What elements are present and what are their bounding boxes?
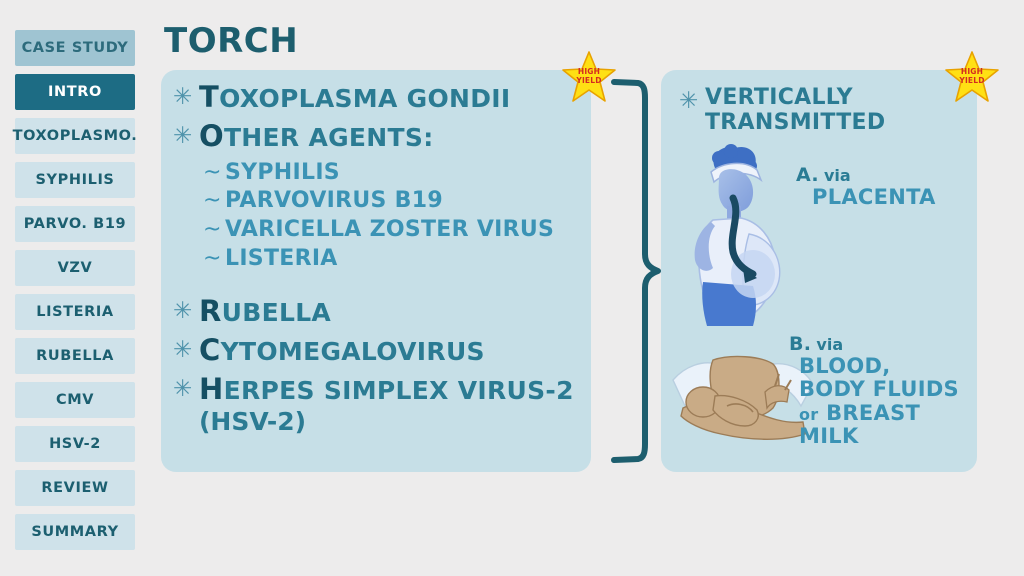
heading-text: VERTICALLY TRANSMITTED — [705, 86, 885, 135]
sidebar-item-label: SYPHILIS — [36, 172, 115, 188]
sidebar-item-label: RUBELLA — [36, 348, 114, 364]
list-spacer — [173, 276, 583, 296]
curly-brace-icon — [608, 76, 664, 466]
transmission-panel: ✳ VERTICALLY TRANSMITTED — [661, 70, 977, 472]
note-b-line-2: BODY FLUIDS — [799, 378, 959, 402]
note-b-line-1: BLOOD, — [799, 355, 959, 379]
note-a-via: via — [824, 166, 851, 185]
sidebar-item-cmv[interactable]: CMV — [15, 382, 135, 418]
sidebar-nav: CASE STUDY INTRO TOXOPLASMO. SYPHILIS PA… — [15, 30, 135, 558]
list-item: ~ LISTERIA — [203, 247, 583, 271]
note-b-via: via — [816, 335, 843, 354]
list-item: ✳ TOXOPLASMA GONDII — [173, 82, 583, 113]
acronym-letter: C — [199, 333, 221, 367]
asterisk-bullet-icon: ✳ — [679, 86, 705, 113]
sidebar-item-label: SUMMARY — [31, 524, 118, 540]
list-item-rest: ERPES SIMPLEX VIRUS-2 — [224, 376, 574, 405]
heading-line-2: TRANSMITTED — [705, 110, 885, 135]
note-b-line-3: or BREAST — [799, 402, 959, 426]
note-b-line-3-text: BREAST — [826, 401, 920, 425]
acronym-letter: H — [199, 372, 224, 406]
tilde-bullet-icon: ~ — [203, 218, 225, 241]
sidebar-item-toxoplasmo[interactable]: TOXOPLASMO. — [15, 118, 135, 154]
list-item-label: OTHER AGENTS: — [199, 121, 434, 152]
list-item-label: HERPES SIMPLEX VIRUS-2 — [199, 374, 574, 405]
list-item-rest: UBELLA — [222, 298, 331, 327]
slide-canvas: CASE STUDY INTRO TOXOPLASMO. SYPHILIS PA… — [0, 0, 1024, 576]
sidebar-item-summary[interactable]: SUMMARY — [15, 514, 135, 550]
asterisk-bullet-icon: ✳ — [173, 374, 199, 401]
sidebar-item-label: TOXOPLASMO. — [13, 128, 138, 144]
sidebar-item-label: LISTERIA — [36, 304, 113, 320]
note-b-header: B. via — [789, 334, 959, 355]
sidebar-item-case-study[interactable]: CASE STUDY — [15, 30, 135, 66]
sub-item-label: VARICELLA ZOSTER VIRUS — [225, 218, 554, 242]
tilde-bullet-icon: ~ — [203, 189, 225, 212]
tilde-bullet-icon: ~ — [203, 161, 225, 184]
sub-item-label: SYPHILIS — [225, 161, 340, 185]
sub-item-label: PARVOVIRUS B19 — [225, 189, 443, 213]
asterisk-bullet-icon: ✳ — [173, 335, 199, 362]
heading-line-1: VERTICALLY — [705, 85, 853, 110]
sidebar-item-label: INTRO — [48, 84, 102, 100]
list-item: ✳ RUBELLA — [173, 296, 583, 327]
list-item: ~ SYPHILIS — [203, 161, 583, 185]
sidebar-item-label: CMV — [56, 392, 94, 408]
star-icon — [945, 50, 999, 104]
sidebar-item-label: PARVO. B19 — [24, 216, 126, 232]
sub-item-label: LISTERIA — [225, 247, 338, 271]
page-title: TORCH — [164, 24, 298, 58]
list-item-label: TOXOPLASMA GONDII — [199, 82, 510, 113]
list-item-rest: OXOPLASMA GONDII — [219, 84, 510, 113]
list-item: ~ VARICELLA ZOSTER VIRUS — [203, 218, 583, 242]
sidebar-item-review[interactable]: REVIEW — [15, 470, 135, 506]
vertically-transmitted-heading: ✳ VERTICALLY TRANSMITTED — [679, 86, 885, 135]
note-a-label: A. — [796, 164, 819, 186]
note-b-label: B. — [789, 333, 811, 355]
sidebar-item-parvo-b19[interactable]: PARVO. B19 — [15, 206, 135, 242]
list-item: ✳ HERPES SIMPLEX VIRUS-2 — [173, 374, 583, 405]
sidebar-item-rubella[interactable]: RUBELLA — [15, 338, 135, 374]
asterisk-bullet-icon: ✳ — [173, 82, 199, 109]
tilde-bullet-icon: ~ — [203, 247, 225, 270]
sidebar-item-intro[interactable]: INTRO — [15, 74, 135, 110]
acronym-letter: O — [199, 119, 224, 153]
sidebar-item-hsv-2[interactable]: HSV-2 — [15, 426, 135, 462]
sidebar-item-label: CASE STUDY — [22, 40, 129, 56]
note-a-header: A. via — [796, 165, 936, 186]
note-b-or: or — [799, 405, 818, 424]
note-a-body: PLACENTA — [812, 186, 936, 210]
note-a: A. via PLACENTA — [796, 165, 936, 209]
sidebar-item-label: VZV — [58, 260, 93, 276]
list-item-rest: THER AGENTS: — [224, 123, 434, 152]
torch-acronym-panel: ✳ TOXOPLASMA GONDII ✳ OTHER AGENTS: ~ SY… — [161, 70, 591, 472]
sidebar-item-syphilis[interactable]: SYPHILIS — [15, 162, 135, 198]
asterisk-bullet-icon: ✳ — [173, 121, 199, 148]
list-item-label: CYTOMEGALOVIRUS — [199, 335, 485, 366]
note-b: B. via BLOOD, BODY FLUIDS or BREAST MILK — [789, 334, 959, 449]
list-item: ✳ CYTOMEGALOVIRUS — [173, 335, 583, 366]
high-yield-badge-left: HIGH YIELD — [562, 50, 616, 104]
sidebar-item-label: HSV-2 — [49, 436, 101, 452]
acronym-letter: R — [199, 294, 222, 328]
note-b-line-4: MILK — [799, 425, 959, 449]
list-item-rest: YTOMEGALOVIRUS — [221, 337, 485, 366]
sidebar-item-listeria[interactable]: LISTERIA — [15, 294, 135, 330]
acronym-letter: T — [199, 80, 219, 114]
pregnant-woman-illustration — [683, 142, 803, 327]
sidebar-item-vzv[interactable]: VZV — [15, 250, 135, 286]
list-item: ~ PARVOVIRUS B19 — [203, 189, 583, 213]
list-item-continuation: (HSV-2) — [199, 408, 583, 435]
star-icon — [562, 50, 616, 104]
torch-list: ✳ TOXOPLASMA GONDII ✳ OTHER AGENTS: ~ SY… — [173, 82, 583, 435]
list-item-label: RUBELLA — [199, 296, 331, 327]
high-yield-badge-right: HIGH YIELD — [945, 50, 999, 104]
sidebar-item-label: REVIEW — [41, 480, 108, 496]
list-item: ✳ OTHER AGENTS: — [173, 121, 583, 152]
asterisk-bullet-icon: ✳ — [173, 296, 199, 323]
